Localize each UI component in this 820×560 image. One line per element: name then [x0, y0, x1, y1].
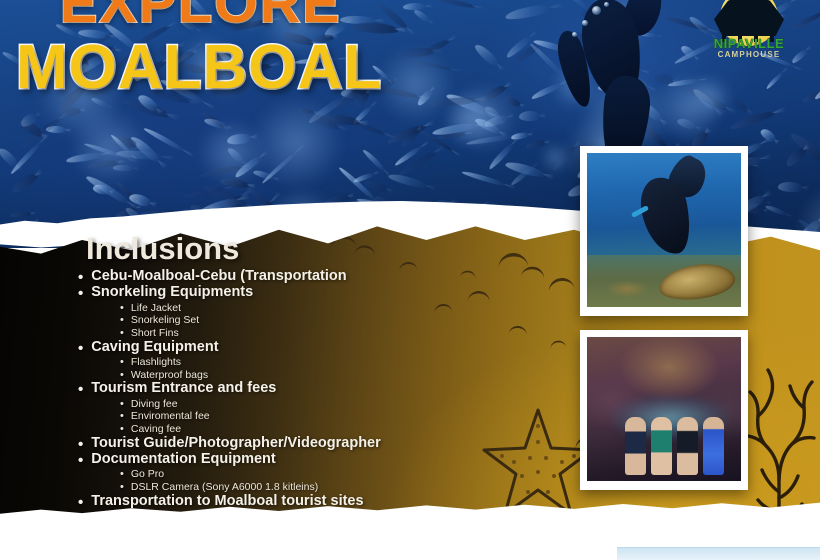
bird-icon	[498, 252, 529, 268]
bullet-icon: •	[120, 423, 124, 436]
inclusion-item-label: Cebu-Moalboal-Cebu (Transportation	[91, 269, 346, 284]
headline-explore: EXPLORE	[60, 0, 342, 35]
inclusion-item: •Cebu-Moalboal-Cebu (Transportation	[78, 269, 548, 284]
inclusion-item: •Transportation to Moalboal tourist site…	[78, 494, 548, 509]
photo-group-inside-cave	[580, 330, 748, 490]
bottom-blue-strip	[617, 547, 820, 560]
inclusion-subitem-label: DSLR Camera (Sony A6000 1.8 kitleins)	[131, 481, 318, 493]
inclusion-subitem-label: Caving fee	[131, 423, 181, 435]
inclusion-subitem: •Enviromental fee	[120, 410, 548, 423]
freediver-silhouette	[540, 0, 672, 170]
bullet-icon: •	[120, 302, 124, 315]
inclusions-heading: Inclusions	[86, 231, 239, 267]
inclusion-item: •Documentation Equipment	[78, 452, 548, 467]
headline-moalboal: MOALBOAL	[16, 32, 382, 103]
inclusion-subitem: •Life Jacket	[120, 302, 548, 315]
inclusion-subitem: •Go Pro	[120, 468, 548, 481]
bullet-icon: •	[78, 495, 83, 510]
bullet-icon: •	[78, 453, 83, 468]
inclusion-subitem: •Flashlights	[120, 356, 548, 369]
bullet-icon: •	[78, 286, 83, 301]
inclusion-subitem-label: Short Fins	[131, 327, 179, 339]
inclusion-item-label: Documentation Equipment	[91, 452, 275, 467]
inclusion-subitem-label: Diving fee	[131, 398, 178, 410]
bullet-icon: •	[78, 437, 83, 452]
bullet-icon: •	[120, 356, 124, 369]
logo-brand-name: NIPAVILLE	[706, 36, 792, 51]
bullet-icon: •	[120, 410, 124, 423]
bird-icon	[550, 340, 566, 349]
inclusion-subitem-label: Snorkeling Set	[131, 314, 199, 326]
bullet-icon: •	[120, 481, 124, 494]
bird-icon	[547, 276, 575, 292]
inclusion-subitem: •Snorkeling Set	[120, 314, 548, 327]
inclusion-item-label: Tourist Guide/Photographer/Videographer	[91, 436, 381, 451]
inclusion-item: •Tourist Guide/Photographer/Videographer	[78, 436, 548, 451]
bird-icon	[354, 245, 375, 257]
inclusion-item-label: Transportation to Moalboal tourist sites	[91, 494, 363, 509]
bullet-icon: •	[120, 468, 124, 481]
inclusion-subitem-label: Go Pro	[131, 468, 164, 480]
inclusion-subitem-label: Life Jacket	[131, 302, 181, 314]
inclusion-subitem: •DSLR Camera (Sony A6000 1.8 kitleins)	[120, 481, 548, 494]
inclusion-subitem: •Short Fins	[120, 327, 548, 340]
bullet-icon: •	[120, 327, 124, 340]
inclusion-item: •Snorkeling Equipments	[78, 285, 548, 300]
inclusion-subitem-label: Flashlights	[131, 356, 181, 368]
bullet-icon: •	[120, 314, 124, 327]
photo-snorkeler-with-sea-turtle	[580, 146, 748, 316]
inclusion-item-label: Caving Equipment	[91, 340, 218, 355]
nipaville-logo: NIPAVILLE CAMPHOUSE	[706, 0, 792, 66]
poster-canvas: EXPLORE MOALBOAL NIPAVILLE CAMPHOUSE Inc…	[0, 0, 820, 560]
bullet-icon: •	[78, 382, 83, 397]
logo-subtitle: CAMPHOUSE	[706, 50, 792, 59]
inclusion-item-label: Snorkeling Equipments	[91, 285, 253, 300]
inclusion-item: •Tourism Entrance and fees	[78, 381, 548, 396]
bullet-icon: •	[120, 398, 124, 411]
inclusion-item: •Caving Equipment	[78, 340, 548, 355]
inclusion-item-label: Tourism Entrance and fees	[91, 381, 276, 396]
inclusion-subitem-label: Enviromental fee	[131, 410, 210, 422]
bullet-icon: •	[78, 341, 83, 356]
inclusion-subitem: •Diving fee	[120, 398, 548, 411]
inclusion-subitem: •Caving fee	[120, 423, 548, 436]
inclusions-list: •Cebu-Moalboal-Cebu (Transportation•Snor…	[78, 269, 548, 510]
bullet-icon: •	[78, 270, 83, 285]
